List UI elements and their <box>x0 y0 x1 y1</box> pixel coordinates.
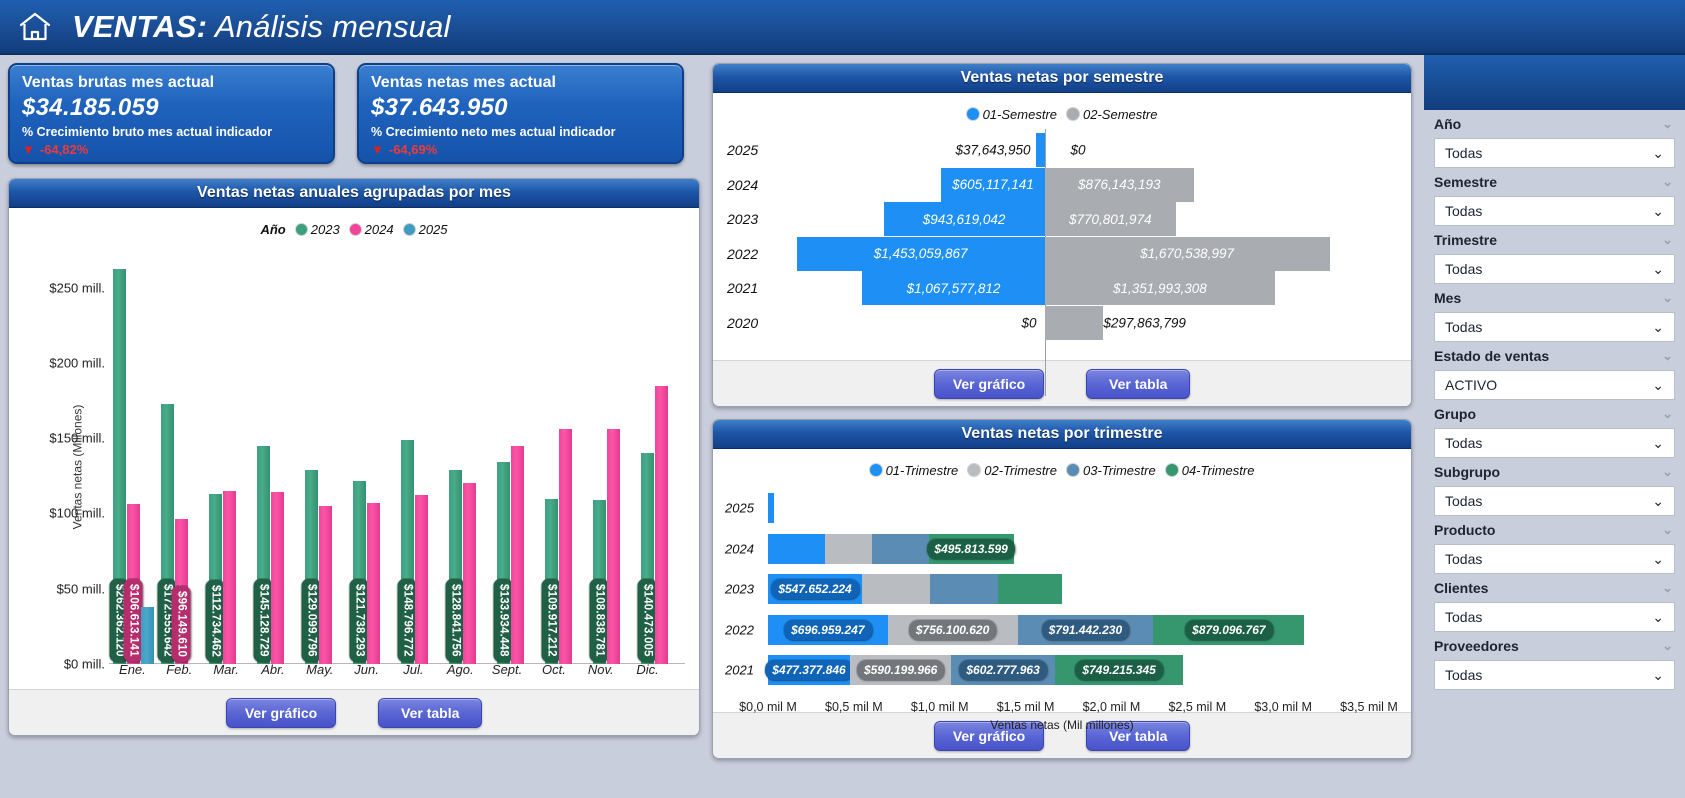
filter-select-value: Todas <box>1445 261 1482 277</box>
sidebar-top-bar <box>1424 55 1685 110</box>
legend-item-label: 02-Semestre <box>1083 107 1157 122</box>
legend-item-01-Semestre: 01-Semestre <box>967 107 1057 122</box>
semester-row: 2025$37,643,950$0 <box>713 133 1411 167</box>
filter-label-año: Año⌄ <box>1424 110 1685 138</box>
semester-row-label: 2020 <box>727 315 758 331</box>
kpi-title: Ventas brutas mes actual <box>22 73 321 93</box>
semester-row-label: 2023 <box>727 211 758 227</box>
x-axis-tick: Feb. <box>166 662 192 677</box>
semester-bar-01-label: $605,117,141 <box>952 177 1034 192</box>
bar-2024-Jun. <box>367 503 380 664</box>
x-axis-title: Ventas netas (Mil millones) <box>713 718 1411 732</box>
filter-select-value: Todas <box>1445 435 1482 451</box>
bar-2023-Nov.: $108.838.781 <box>593 500 606 664</box>
chart-legend: Año202320242025 <box>9 214 699 244</box>
semester-bar-02-label: $1,351,993,308 <box>1113 281 1207 296</box>
trimestre-seg-label: $756.100.620 <box>909 620 996 640</box>
panel-ventas-por-semestre: Ventas netas por semestre 01-Semestre02-… <box>712 63 1412 407</box>
filter-label-text: Subgrupo <box>1434 464 1500 480</box>
bar-value-label: $96.149.610 <box>172 586 191 662</box>
trimestre-seg-label: $879.096.767 <box>1185 620 1272 640</box>
bar-group: $172.555.642$96.149.610 <box>157 250 205 664</box>
semester-chart: 01-Semestre02-Semestre 2025$37,643,950$0… <box>713 93 1411 360</box>
legend-item-label: 02-Trimestre <box>984 463 1057 478</box>
legend-item-label: 2023 <box>311 222 340 237</box>
chevron-down-icon: ⌄ <box>1652 145 1664 162</box>
y-axis-ticks: $0 mill.$50 mill.$100 mill.$150 mill.$20… <box>29 244 105 689</box>
legend-swatch-03-Trimestre <box>1067 464 1079 476</box>
legend-item-02-Semestre: 02-Semestre <box>1067 107 1157 122</box>
bar-2025-Ene. <box>141 607 154 664</box>
app-header: VENTAS: Análisis mensual <box>0 0 1685 55</box>
x-axis-tick: $1,5 mil M <box>997 700 1055 714</box>
trimestre-seg-label: $696.959.247 <box>784 620 871 640</box>
x-axis-tick: Jun. <box>354 662 379 677</box>
filter-select-estado-de-ventas[interactable]: ACTIVO⌄ <box>1434 370 1675 400</box>
panel-ventas-por-trimestre: Ventas netas por trimestre 01-Trimestre0… <box>712 419 1412 759</box>
trimestre-seg-label: $749.215.345 <box>1075 660 1162 680</box>
bar-2024-Mar. <box>223 491 236 664</box>
bar-group: $140.473.005 <box>637 250 685 664</box>
trimestre-row-label: 2022 <box>725 622 754 637</box>
filter-label-clientes: Clientes⌄ <box>1424 574 1685 602</box>
bar-2024-Ene.: $106.613.141 <box>127 504 140 665</box>
y-axis-tick: $150 mill. <box>33 431 105 446</box>
filters-sidebar: Año⌄Todas⌄Semestre⌄Todas⌄Trimestre⌄Todas… <box>1424 55 1685 798</box>
x-axis-tick: $1,0 mil M <box>911 700 969 714</box>
y-axis-tick: $0 mill. <box>33 657 105 672</box>
trimestre-row: 2021$477.377.846$590.199.966$602.777.963… <box>713 655 1411 685</box>
bar-2023-Abr.: $145.128.729 <box>257 446 270 664</box>
trimestre-row-label: 2025 <box>725 501 754 516</box>
trimestre-chart: 01-Trimestre02-Trimestre03-Trimestre04-T… <box>713 449 1411 712</box>
semester-bar-02: $876,143,193 <box>1045 168 1194 202</box>
x-axis-tick: Jul. <box>403 662 423 677</box>
trimestre-seg-q4: $879.096.767 <box>1153 615 1304 645</box>
filter-select-año[interactable]: Todas⌄ <box>1434 138 1675 168</box>
chevron-down-icon: ⌄ <box>1662 406 1673 422</box>
semester-bar-02: $1,351,993,308 <box>1045 271 1276 305</box>
filter-select-mes[interactable]: Todas⌄ <box>1434 312 1675 342</box>
filter-select-value: Todas <box>1445 203 1482 219</box>
trimestre-seg-q1: $547.652.224 <box>768 574 862 604</box>
filter-label-text: Producto <box>1434 522 1495 538</box>
chevron-down-icon: ⌄ <box>1662 348 1673 364</box>
semester-plot-area: 2025$37,643,950$02024$605,117,141$876,14… <box>713 129 1411 396</box>
kpi-title: Ventas netas mes actual <box>371 73 670 93</box>
filter-select-subgrupo[interactable]: Todas⌄ <box>1434 486 1675 516</box>
filter-select-producto[interactable]: Todas⌄ <box>1434 544 1675 574</box>
panel-title: Ventas netas por trimestre <box>713 420 1411 449</box>
trimestre-seg-q4 <box>998 574 1062 604</box>
x-axis-tick: $3,0 mil M <box>1254 700 1312 714</box>
triangle-down-icon: ▼ <box>371 141 384 159</box>
trimestre-seg-q2: $590.199.966 <box>850 655 951 685</box>
filter-label-text: Estado de ventas <box>1434 348 1549 364</box>
trimestre-seg-q2 <box>825 534 872 564</box>
bar-2023-May.: $129.099.796 <box>305 470 318 664</box>
chevron-down-icon: ⌄ <box>1652 319 1664 336</box>
legend-item-label: 2025 <box>419 222 448 237</box>
bar-2024-Feb.: $96.149.610 <box>175 519 188 664</box>
bar-2024-Nov. <box>607 429 620 664</box>
bar-group: $108.838.781 <box>589 250 637 664</box>
legend-item-label: 01-Trimestre <box>886 463 959 478</box>
trimestre-seg-q3: $791.442.230 <box>1018 615 1154 645</box>
semester-row-label: 2025 <box>727 142 758 158</box>
filter-label-text: Año <box>1434 116 1461 132</box>
bar-2024-Ago. <box>463 483 476 664</box>
semester-bar-01: $37,643,950 <box>1036 133 1045 167</box>
x-axis-tick: Ene. <box>119 662 146 677</box>
kpi-delta-value: -64,82% <box>40 141 88 159</box>
monthly-panel-footer: Ver gráfico Ver tabla <box>9 689 699 735</box>
bar-2024-Abr. <box>271 492 284 664</box>
chart-legend: 01-Semestre02-Semestre <box>713 99 1411 129</box>
filter-select-value: ACTIVO <box>1445 377 1497 393</box>
semester-bar-01: $1,453,059,867 <box>797 237 1045 271</box>
kpi-card-ventas-brutas: Ventas brutas mes actual $34.185.059 % C… <box>8 63 335 164</box>
legend-swatch-01-Trimestre <box>870 464 882 476</box>
x-axis-tick: May. <box>306 662 333 677</box>
filter-label-proveedores: Proveedores⌄ <box>1424 632 1685 660</box>
semester-bar-01-label: $37,643,950 <box>955 143 1030 158</box>
filter-select-clientes[interactable]: Todas⌄ <box>1434 602 1675 632</box>
semester-bar-01-label: $1,067,577,812 <box>907 281 1001 296</box>
chevron-down-icon: ⌄ <box>1662 580 1673 596</box>
semester-bar-02: $1,670,538,997 <box>1045 237 1330 271</box>
legend-item-2025: 2025 <box>404 222 448 237</box>
bar-group: $121.738.293 <box>349 250 397 664</box>
filter-select-value: Todas <box>1445 145 1482 161</box>
trimestre-seg-q2: $756.100.620 <box>888 615 1018 645</box>
legend-item-03-Trimestre: 03-Trimestre <box>1067 463 1156 478</box>
trimestre-row-label: 2021 <box>725 663 754 678</box>
semester-row-label: 2021 <box>727 280 758 296</box>
chevron-down-icon: ⌄ <box>1652 203 1664 220</box>
semester-row: 2022$1,453,059,867$1,670,538,997 <box>713 237 1411 271</box>
kpi-row: Ventas brutas mes actual $34.185.059 % C… <box>8 63 700 164</box>
legend-title: Año <box>260 222 285 237</box>
legend-swatch-2025 <box>404 224 415 235</box>
filter-label-text: Clientes <box>1434 580 1488 596</box>
y-axis-tick: $100 mill. <box>33 506 105 521</box>
legend-swatch-2024 <box>350 224 361 235</box>
trimestre-seg-label: $477.377.846 <box>765 660 852 680</box>
semester-bar-02-label: $0 <box>1071 143 1086 158</box>
trimestre-seg-label: $791.442.230 <box>1042 620 1129 640</box>
bar-group: $129.099.796 <box>301 250 349 664</box>
kpi-value: $37.643.950 <box>371 93 670 123</box>
kpi-subtitle: % Crecimiento neto mes actual indicador <box>371 123 670 141</box>
filter-select-value: Todas <box>1445 319 1482 335</box>
x-axis-tick: Dic. <box>636 662 658 677</box>
semester-row: 2020$0$297,863,799 <box>713 306 1411 340</box>
kpi-delta: ▼ -64,69% <box>371 141 670 159</box>
filter-label-subgrupo: Subgrupo⌄ <box>1424 458 1685 486</box>
panel-ventas-netas-mensuales: Ventas netas anuales agrupadas por mes A… <box>8 178 700 736</box>
trimestre-seg-label: $590.199.966 <box>857 660 944 680</box>
kpi-delta: ▼ -64,82% <box>22 141 321 159</box>
filter-label-estado-de-ventas: Estado de ventas⌄ <box>1424 342 1685 370</box>
x-axis-tick: $2,5 mil M <box>1168 700 1226 714</box>
filter-select-value: Todas <box>1445 493 1482 509</box>
semester-bar-02-label: $876,143,193 <box>1078 177 1161 192</box>
legend-item-label: 01-Semestre <box>983 107 1057 122</box>
trimestre-row: 2022$696.959.247$756.100.620$791.442.230… <box>713 615 1411 645</box>
x-axis-tick: Nov. <box>588 662 614 677</box>
filter-select-value: Todas <box>1445 551 1482 567</box>
trimestre-plot-area: 20252024$495.813.5992023$547.652.2242022… <box>713 485 1411 748</box>
filter-label-text: Mes <box>1434 290 1461 306</box>
x-axis-tick: Oct. <box>542 662 566 677</box>
filter-label-mes: Mes⌄ <box>1424 284 1685 312</box>
trimestre-row: 2025 <box>713 493 1411 523</box>
trimestre-seg-label: $495.813.599 <box>927 539 1014 559</box>
semester-row: 2023$943,619,042$770,801,974 <box>713 202 1411 236</box>
chevron-down-icon: ⌄ <box>1652 261 1664 278</box>
legend-item-04-Trimestre: 04-Trimestre <box>1166 463 1255 478</box>
x-axis-tick: Abr. <box>261 662 284 677</box>
legend-swatch-02-Trimestre <box>968 464 980 476</box>
filter-label-text: Grupo <box>1434 406 1476 422</box>
trimestre-seg-q1: $477.377.846 <box>768 655 850 685</box>
bars-area: $262.362.120$106.613.141$172.555.642$96.… <box>109 250 685 664</box>
chevron-down-icon: ⌄ <box>1662 522 1673 538</box>
panel-title: Ventas netas por semestre <box>713 64 1411 93</box>
middle-column: Ventas netas por semestre 01-Semestre02-… <box>712 63 1412 793</box>
trimestre-seg-label: $602.777.963 <box>959 660 1046 680</box>
filter-label-text: Proveedores <box>1434 638 1519 654</box>
trimestre-seg-q3 <box>872 534 929 564</box>
bar-2023-Ago.: $128.841.756 <box>449 470 462 664</box>
bar-2024-Jul. <box>415 495 428 664</box>
semester-bar-02-label: $1,670,538,997 <box>1140 246 1234 261</box>
filter-label-grupo: Grupo⌄ <box>1424 400 1685 428</box>
y-axis-tick: $50 mill. <box>33 581 105 596</box>
bar-group: $262.362.120$106.613.141 <box>109 250 157 664</box>
legend-item-01-Trimestre: 01-Trimestre <box>870 463 959 478</box>
trimestre-row-label: 2023 <box>725 582 754 597</box>
filter-label-text: Trimestre <box>1434 232 1497 248</box>
trimestre-seg-q4: $495.813.599 <box>929 534 1014 564</box>
trimestre-seg-q1 <box>768 493 774 523</box>
semester-row-label: 2024 <box>727 177 758 193</box>
semester-bar-01: $1,067,577,812 <box>862 271 1044 305</box>
kpi-subtitle: % Crecimiento bruto mes actual indicador <box>22 123 321 141</box>
semester-bar-01-label: $943,619,042 <box>923 212 1006 227</box>
chevron-down-icon: ⌄ <box>1652 667 1664 684</box>
trimestre-row: 2023$547.652.224 <box>713 574 1411 604</box>
semester-bar-02: $770,801,974 <box>1045 202 1177 236</box>
legend-swatch-01-Semestre <box>967 108 979 120</box>
bar-group: $128.841.756 <box>445 250 493 664</box>
x-axis-tick: $0,0 mil M <box>739 700 797 714</box>
legend-swatch-04-Trimestre <box>1166 464 1178 476</box>
filter-select-trimestre[interactable]: Todas⌄ <box>1434 254 1675 284</box>
chevron-down-icon: ⌄ <box>1662 464 1673 480</box>
trimestre-seg-q1 <box>768 534 825 564</box>
y-axis-tick: $200 mill. <box>33 355 105 370</box>
trimestre-row-label: 2024 <box>725 541 754 556</box>
page-title-bold: VENTAS: <box>72 9 207 44</box>
semester-row: 2021$1,067,577,812$1,351,993,308 <box>713 271 1411 305</box>
trimestre-seg-q1: $696.959.247 <box>768 615 888 645</box>
bar-group: $145.128.729 <box>253 250 301 664</box>
chevron-down-icon: ⌄ <box>1652 551 1664 568</box>
trimestre-seg-label: $547.652.224 <box>771 579 858 599</box>
monthly-plot-area: Ventas netas (Millones) $0 mill.$50 mill… <box>9 244 699 689</box>
bar-2023-Mar.: $112.734.462 <box>209 494 222 664</box>
filter-select-value: Todas <box>1445 667 1482 683</box>
bar-group: $112.734.462 <box>205 250 253 664</box>
filter-label-semestre: Semestre⌄ <box>1424 168 1685 196</box>
x-axis-tick: $2,0 mil M <box>1083 700 1141 714</box>
bar-2024-Dic. <box>655 386 668 665</box>
chevron-down-icon: ⌄ <box>1652 435 1664 452</box>
legend-item-label: 2024 <box>365 222 394 237</box>
semester-row-label: 2022 <box>727 246 758 262</box>
chevron-down-icon: ⌄ <box>1662 116 1673 132</box>
legend-swatch-2023 <box>296 224 307 235</box>
bar-2024-May. <box>319 506 332 664</box>
trimestre-seg-q3: $602.777.963 <box>951 655 1055 685</box>
bar-2024-Sept. <box>511 446 524 664</box>
filter-label-text: Semestre <box>1434 174 1497 190</box>
dashboard-body: Ventas brutas mes actual $34.185.059 % C… <box>0 55 1685 798</box>
x-axis-tick: Mar. <box>213 662 239 677</box>
legend-item-02-Trimestre: 02-Trimestre <box>968 463 1057 478</box>
panel-title: Ventas netas anuales agrupadas por mes <box>9 179 699 208</box>
home-icon[interactable] <box>12 5 58 49</box>
bar-group: $109.917.212 <box>541 250 589 664</box>
filter-label-trimestre: Trimestre⌄ <box>1424 226 1685 254</box>
ver-tabla-button-monthly[interactable]: Ver tabla <box>378 698 482 728</box>
legend-swatch-02-Semestre <box>1067 108 1079 120</box>
semester-bar-02: $297,863,799 <box>1045 306 1103 340</box>
left-column: Ventas brutas mes actual $34.185.059 % C… <box>8 63 700 793</box>
bar-group: $148.796.772 <box>397 250 445 664</box>
kpi-value: $34.185.059 <box>22 93 321 123</box>
chevron-down-icon: ⌄ <box>1662 174 1673 190</box>
chevron-down-icon: ⌄ <box>1662 638 1673 654</box>
bar-2024-Oct. <box>559 429 572 664</box>
semester-bar-01: $943,619,042 <box>884 202 1045 236</box>
trimestre-seg-q3 <box>930 574 998 604</box>
kpi-delta-value: -64,69% <box>389 141 437 159</box>
semester-bar-01-label: $0 <box>1022 315 1037 330</box>
monthly-chart: Año202320242025 Ventas netas (Millones) … <box>9 208 699 689</box>
trimestre-seg-q4: $749.215.345 <box>1055 655 1184 685</box>
legend-item-2024: 2024 <box>350 222 394 237</box>
x-axis-tick: $3,5 mil M <box>1340 700 1398 714</box>
filter-label-producto: Producto⌄ <box>1424 516 1685 544</box>
bar-2023-Jun.: $121.738.293 <box>353 481 366 664</box>
semester-bar-01: $605,117,141 <box>941 168 1044 202</box>
bar-2023-Dic.: $140.473.005 <box>641 453 654 664</box>
ver-grafico-button-monthly[interactable]: Ver gráfico <box>226 698 336 728</box>
bar-group: $133.934.448 <box>493 250 541 664</box>
semester-bar-02-label: $770,801,974 <box>1069 212 1152 227</box>
chevron-down-icon: ⌄ <box>1662 232 1673 248</box>
legend-item-2023: 2023 <box>296 222 340 237</box>
semester-bar-01-label: $1,453,059,867 <box>874 246 968 261</box>
chart-legend: 01-Trimestre02-Trimestre03-Trimestre04-T… <box>713 455 1411 485</box>
page-title-light: Análisis mensual <box>207 9 450 44</box>
triangle-down-icon: ▼ <box>22 141 35 159</box>
bar-2023-Oct.: $109.917.212 <box>545 499 558 664</box>
filter-select-semestre[interactable]: Todas⌄ <box>1434 196 1675 226</box>
trimestre-seg-q2 <box>862 574 930 604</box>
page-title: VENTAS: Análisis mensual <box>72 9 451 45</box>
filter-select-proveedores[interactable]: Todas⌄ <box>1434 660 1675 690</box>
chevron-down-icon: ⌄ <box>1662 290 1673 306</box>
chevron-down-icon: ⌄ <box>1652 609 1664 626</box>
kpi-card-ventas-netas: Ventas netas mes actual $37.643.950 % Cr… <box>357 63 684 164</box>
x-axis-tick: Ago. <box>447 662 474 677</box>
filter-select-grupo[interactable]: Todas⌄ <box>1434 428 1675 458</box>
y-axis-tick: $250 mill. <box>33 280 105 295</box>
semester-row: 2024$605,117,141$876,143,193 <box>713 168 1411 202</box>
x-axis-tick: Sept. <box>492 662 522 677</box>
legend-item-label: 04-Trimestre <box>1182 463 1255 478</box>
legend-item-label: 03-Trimestre <box>1083 463 1156 478</box>
trimestre-row: 2024$495.813.599 <box>713 534 1411 564</box>
semester-bar-02-label: $297,863,799 <box>1103 315 1186 330</box>
x-axis-tick: $0,5 mil M <box>825 700 883 714</box>
bar-2023-Sept.: $133.934.448 <box>497 462 510 664</box>
filter-select-value: Todas <box>1445 609 1482 625</box>
bar-2023-Jul.: $148.796.772 <box>401 440 414 664</box>
chevron-down-icon: ⌄ <box>1652 377 1664 394</box>
chevron-down-icon: ⌄ <box>1652 493 1664 510</box>
